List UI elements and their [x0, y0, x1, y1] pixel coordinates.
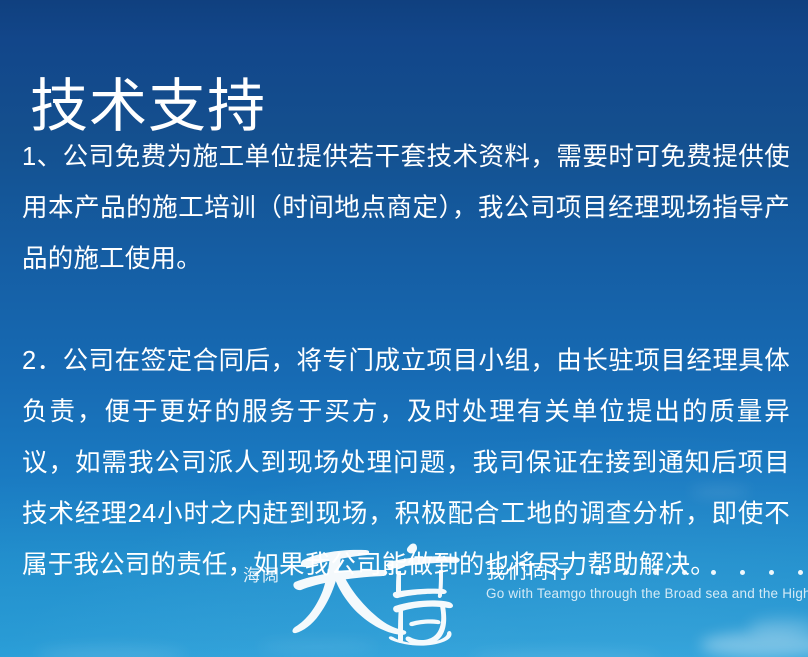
decorative-dot	[624, 570, 629, 575]
slide-canvas: 技术支持 1、公司免费为施工单位提供若干套技术资料，需要时可免费提供使用本产品的…	[0, 0, 808, 657]
decorative-dot	[740, 570, 745, 575]
decorative-dot	[798, 570, 803, 575]
tiangao-brush-calligraphy-icon	[291, 530, 481, 646]
decorative-dot	[769, 570, 774, 575]
english-tagline: Go with Teamgo through the Broad sea and…	[486, 586, 808, 602]
logo-prefix-text: 海阔	[243, 566, 281, 586]
slogan-text: 我们同行	[486, 562, 572, 584]
cloud-wisp-icon	[700, 632, 808, 657]
cloud-wisp-icon	[748, 618, 808, 636]
slide-title: 技术支持	[30, 73, 266, 141]
slide-body: 1、公司免费为施工单位提供若干套技术资料，需要时可免费提供使用本产品的施工培训（…	[22, 132, 790, 591]
body-paragraph-1: 1、公司免费为施工单位提供若干套技术资料，需要时可免费提供使用本产品的施工培训（…	[22, 132, 790, 285]
cloud-wisp-icon	[470, 650, 660, 657]
decorative-dot	[711, 570, 716, 575]
decorative-dot-row	[595, 570, 808, 575]
decorative-dot	[595, 570, 600, 575]
footer-logo-lockup: 海阔	[243, 534, 693, 646]
decorative-dot	[682, 570, 687, 575]
decorative-dot	[653, 570, 658, 575]
cloud-wisp-icon	[36, 646, 186, 657]
